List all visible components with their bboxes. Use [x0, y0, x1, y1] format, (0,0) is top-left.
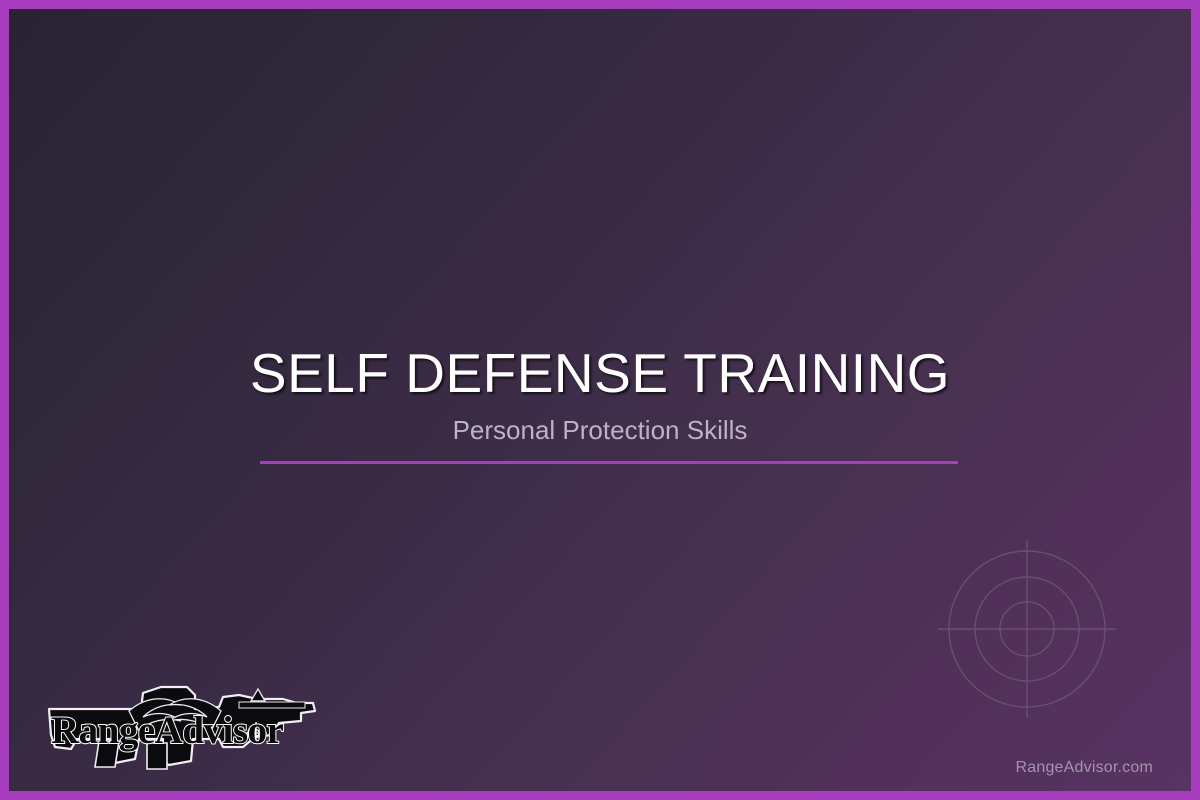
page-subtitle: Personal Protection Skills	[9, 416, 1191, 445]
page-title: SELF DEFENSE TRAINING	[9, 345, 1191, 402]
presentation-slide: SELF DEFENSE TRAINING Personal Protectio…	[0, 0, 1200, 800]
crosshair-target-icon	[930, 532, 1125, 727]
brand-logo: RangeAdvisor	[43, 681, 319, 773]
logo-wordmark: RangeAdvisor	[51, 709, 284, 752]
site-watermark: RangeAdvisor.com	[1016, 759, 1154, 777]
title-divider	[260, 461, 958, 464]
title-block: SELF DEFENSE TRAINING Personal Protectio…	[9, 345, 1191, 445]
